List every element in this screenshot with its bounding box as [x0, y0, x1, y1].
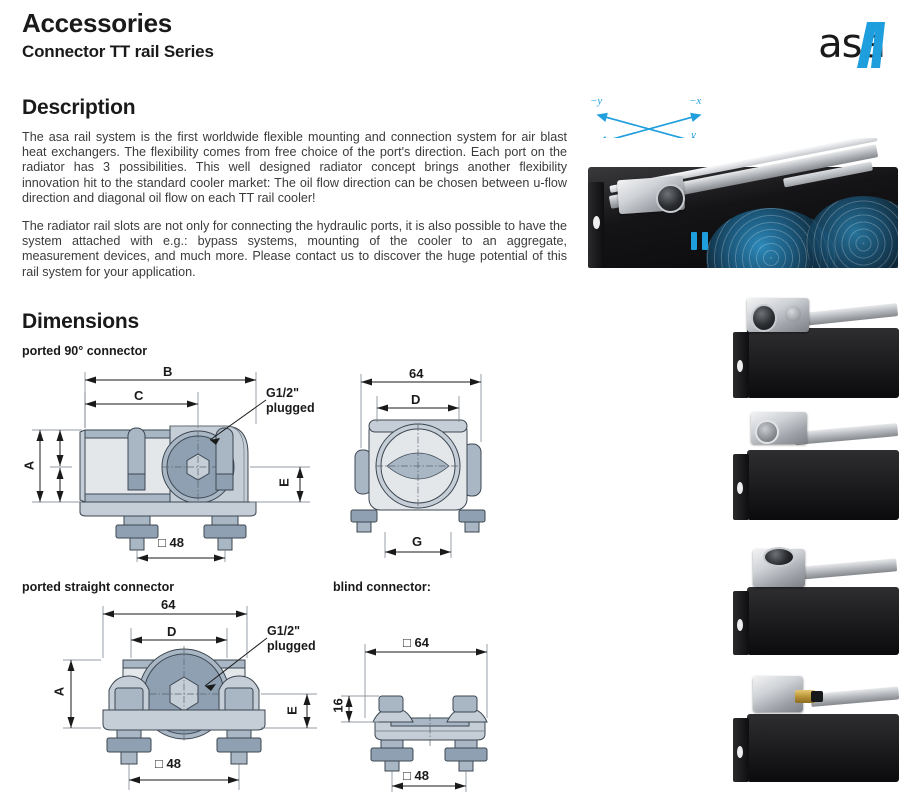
dim-label-e-straight: E — [285, 700, 300, 722]
dim-label-square-48: □ 48 — [158, 535, 184, 550]
product-photo-thumb-1 — [733, 288, 899, 398]
callout-g12-line2: plugged — [266, 401, 315, 415]
connector-flange-2 — [755, 420, 779, 444]
cooler-face-4 — [747, 714, 899, 782]
axis-label-minus-x: −x — [689, 95, 701, 107]
description-paragraph-1: The asa rail system is the first worldwi… — [22, 130, 567, 206]
dim-label-b: B — [163, 364, 172, 379]
product-photo-thumb-2 — [733, 410, 899, 520]
description-paragraph-2: The radiator rail slots are not only for… — [22, 219, 567, 280]
dim-label-square-48-straight: □ 48 — [155, 756, 181, 771]
connector-bore — [656, 184, 685, 213]
axis-label-minus-y: −y — [590, 95, 602, 107]
drawing-ported-straight: 64 D A E □ 48 G1/2" plugged — [55, 598, 335, 793]
bracket-hole-1 — [737, 360, 743, 372]
logo-bars-icon — [851, 22, 885, 68]
connector-bore-3 — [763, 547, 795, 567]
rail-profile-3 — [796, 558, 897, 580]
dim-label-16-blind: 16 — [331, 695, 346, 717]
page-subtitle: Connector TT rail Series — [22, 42, 214, 62]
dim-label-square-48-blind: □ 48 — [403, 768, 429, 783]
dim-label-g: G — [412, 534, 422, 549]
blue-marker-left — [691, 232, 697, 250]
dim-label-64-straight: 64 — [161, 597, 175, 612]
dim-label-square-64-blind: □ 64 — [403, 635, 429, 650]
dim-label-c: C — [134, 388, 143, 403]
product-photo-thumb-3 — [733, 545, 899, 655]
product-photo-main — [588, 138, 898, 268]
description-heading: Description — [22, 96, 135, 120]
page-title: Accessories — [22, 8, 172, 39]
callout-g12-line1: G1/2" — [266, 386, 299, 400]
fitting-end-cap — [811, 691, 823, 702]
bracket-hole-4 — [737, 746, 743, 758]
dim-label-a-straight: A — [52, 681, 67, 703]
connector-bore-1 — [751, 304, 777, 332]
subheading-ported-straight: ported straight connector — [22, 580, 174, 594]
drawing-blind-connector-svg — [335, 630, 525, 795]
connector-flange-1 — [785, 306, 801, 322]
bracket-hole-2 — [737, 482, 743, 494]
subheading-ported-90: ported 90° connector — [22, 344, 147, 358]
rail-profile-2 — [794, 423, 898, 445]
rail-profile-4 — [810, 686, 899, 707]
dim-label-64: 64 — [409, 366, 423, 381]
cooler-face-1 — [747, 328, 899, 398]
cooler-face-3 — [747, 587, 899, 655]
drawing-ported-90-side: B C A E □ 48 G1/2" plugged — [20, 362, 320, 562]
asa-logo: asa — [818, 22, 885, 66]
blue-marker-right — [702, 232, 708, 250]
subheading-blind: blind connector: — [333, 580, 431, 594]
callout-g12-straight-line2: plugged — [267, 639, 316, 653]
callout-g12-straight-line1: G1/2" — [267, 624, 300, 638]
product-photo-thumb-4 — [733, 672, 899, 782]
cooler-face-2 — [747, 450, 899, 520]
bracket-hole — [593, 216, 600, 229]
dim-label-a: A — [22, 455, 37, 477]
dim-label-d-straight: D — [167, 624, 176, 639]
dim-label-d: D — [411, 392, 420, 407]
drawing-ported-90-front: 64 D G — [335, 362, 515, 562]
dim-label-e: E — [277, 472, 292, 494]
bracket-hole-3 — [737, 619, 743, 631]
drawing-blind-connector: □ 64 16 □ 48 — [335, 630, 525, 795]
dimensions-heading: Dimensions — [22, 310, 139, 334]
drawing-ported-90-front-svg — [335, 362, 515, 562]
